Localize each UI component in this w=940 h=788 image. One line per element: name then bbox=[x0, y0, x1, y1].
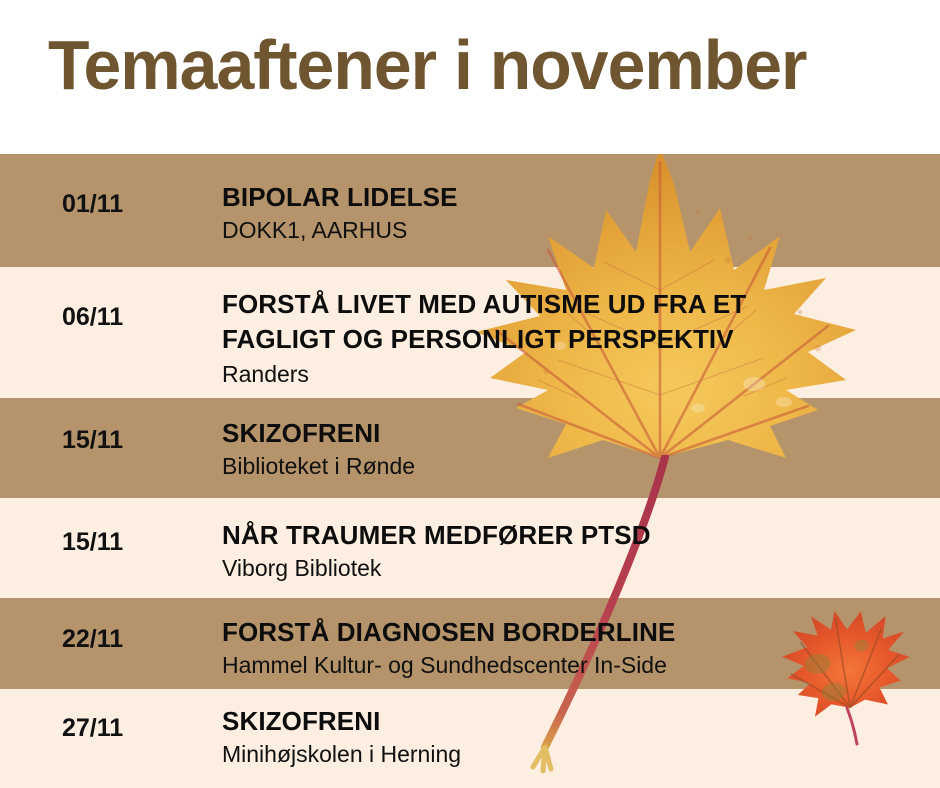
poster-header: Temaaftener i november bbox=[0, 0, 940, 154]
event-row[interactable]: 06/11 FORSTÅ LIVET MED AUTISME UD FRA ET… bbox=[0, 267, 940, 398]
event-row[interactable]: 15/11 SKIZOFRENI Biblioteket i Rønde bbox=[0, 398, 940, 498]
event-list: 01/11 BIPOLAR LIDELSE DOKK1, AARHUS 06/1… bbox=[0, 154, 940, 788]
event-row[interactable]: 27/11 SKIZOFRENI Minihøjskolen i Herning bbox=[0, 689, 940, 788]
event-row[interactable]: 22/11 FORSTÅ DIAGNOSEN BORDERLINE Hammel… bbox=[0, 598, 940, 689]
event-row[interactable]: 01/11 BIPOLAR LIDELSE DOKK1, AARHUS bbox=[0, 154, 940, 267]
page-title: Temaaftener i november bbox=[48, 30, 807, 100]
event-row[interactable]: 15/11 NÅR TRAUMER MEDFØRER PTSD Viborg B… bbox=[0, 498, 940, 598]
poster-canvas: Temaaftener i november 01/11 BIPOLAR LID… bbox=[0, 0, 940, 788]
